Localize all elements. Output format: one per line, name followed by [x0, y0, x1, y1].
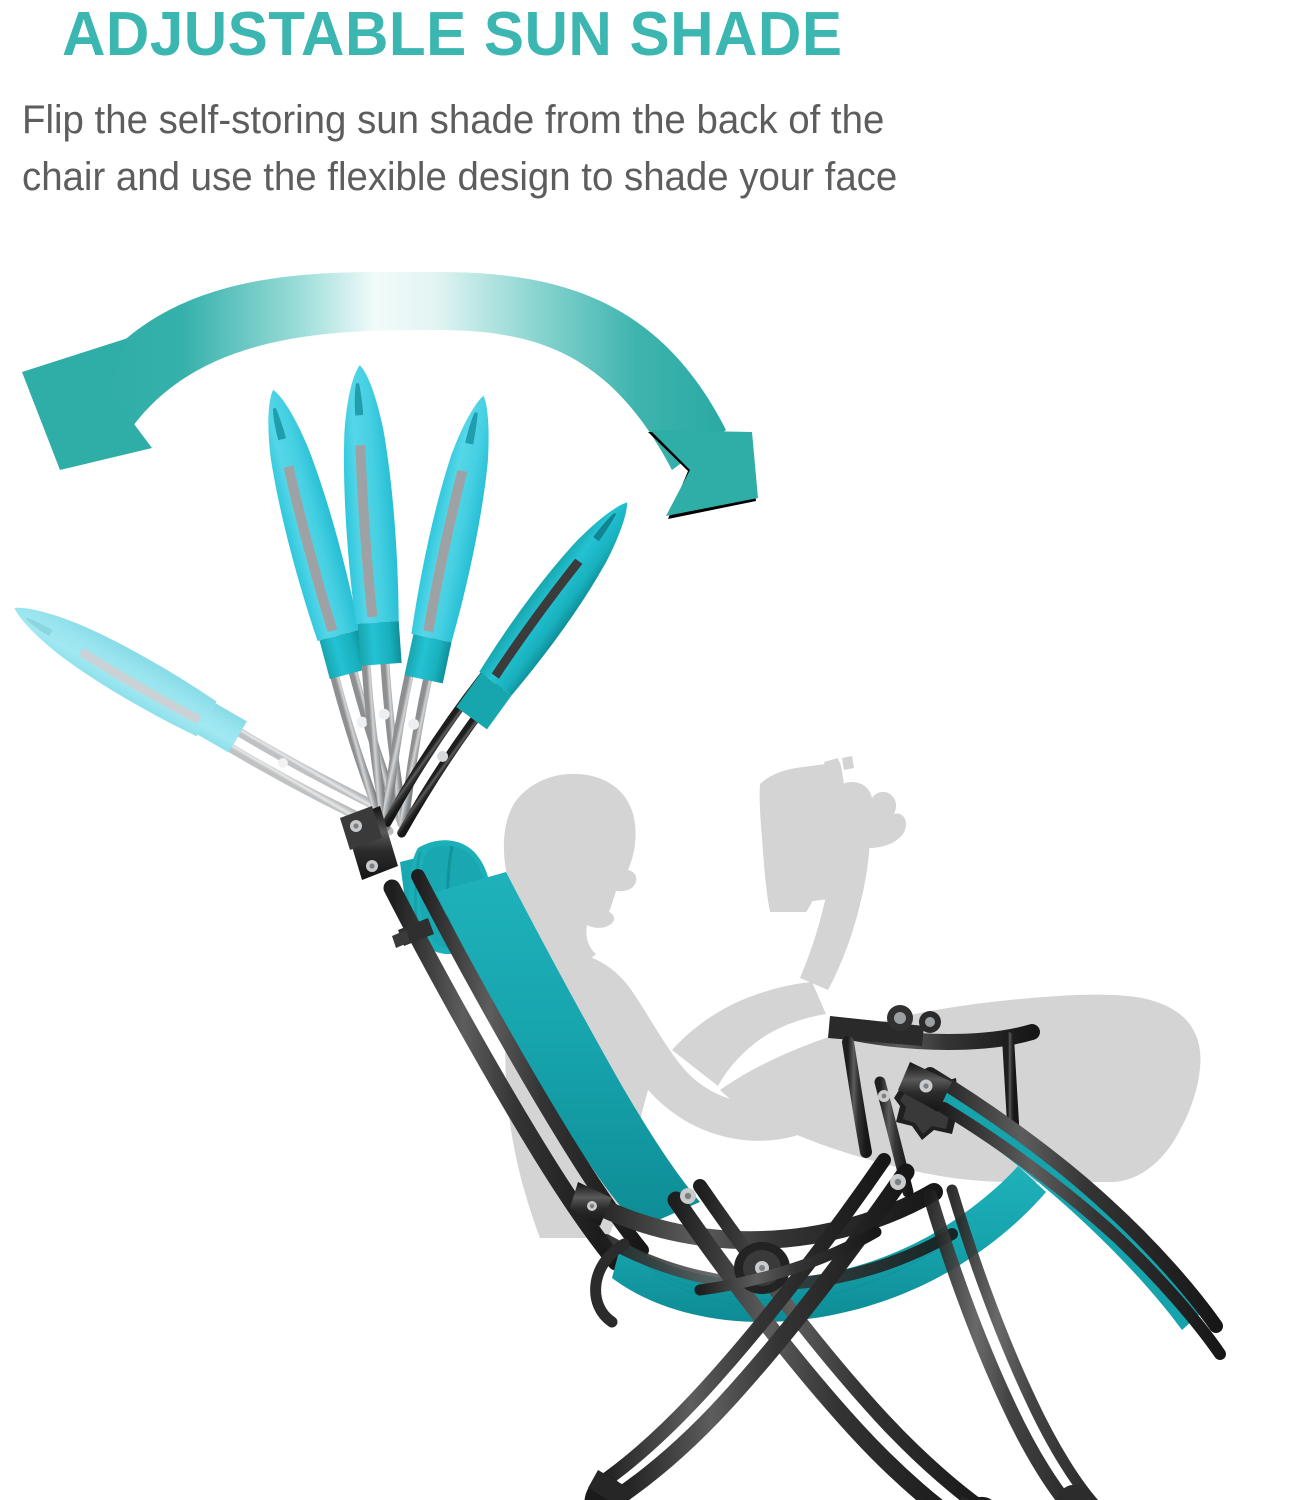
product-feature-infographic: ADJUSTABLE SUN SHADE Flip the self-stori… [0, 0, 1300, 1500]
sun-shade-illustration [0, 0, 1300, 1500]
